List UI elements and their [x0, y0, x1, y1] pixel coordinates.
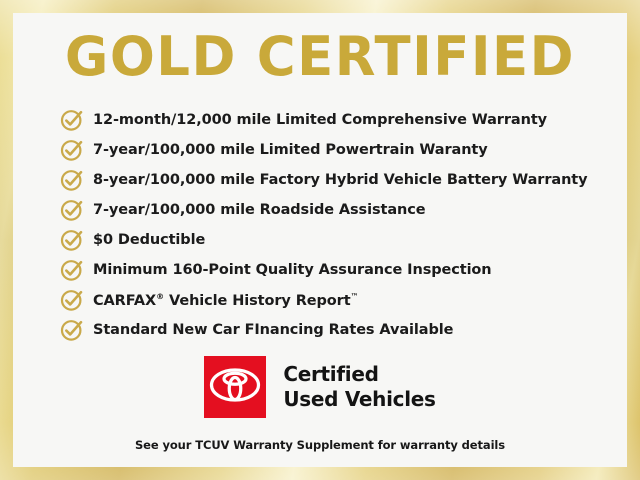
check-circle-icon — [60, 108, 84, 132]
check-circle-icon — [60, 228, 84, 252]
list-item: 8-year/100,000 mile Factory Hybrid Vehic… — [60, 165, 617, 195]
check-circle-icon — [60, 168, 84, 192]
carfax-label-suffix: Vehicle History Report — [164, 292, 350, 308]
list-item-label: 7-year/100,000 mile Roadside Assistance — [93, 202, 425, 218]
list-item-label: $0 Deductible — [93, 232, 205, 248]
carfax-brand-text: CARFAX — [93, 292, 156, 308]
list-item: Minimum 160-Point Quality Assurance Insp… — [60, 255, 617, 285]
check-circle-icon — [60, 288, 84, 312]
list-item-label: 8-year/100,000 mile Factory Hybrid Vehic… — [93, 172, 588, 188]
list-item: 7-year/100,000 mile Roadside Assistance — [60, 195, 617, 225]
list-item: Standard New Car FInancing Rates Availab… — [60, 315, 617, 345]
list-item: 7-year/100,000 mile Limited Powertrain W… — [60, 135, 617, 165]
toyota-certified-used-vehicles-logo: Certified Used Vehicles — [13, 356, 627, 418]
list-item-label: 7-year/100,000 mile Limited Powertrain W… — [93, 142, 488, 158]
benefits-list: 12-month/12,000 mile Limited Comprehensi… — [60, 105, 617, 345]
list-item-label: Standard New Car FInancing Rates Availab… — [93, 322, 453, 338]
list-item-label: 12-month/12,000 mile Limited Comprehensi… — [93, 112, 547, 128]
list-item: $0 Deductible — [60, 225, 617, 255]
toyota-wordmark-line1: Certified — [283, 362, 435, 387]
toyota-logo-box — [204, 356, 266, 418]
list-item: 12-month/12,000 mile Limited Comprehensi… — [60, 105, 617, 135]
check-circle-icon — [60, 258, 84, 282]
list-item: CARFAX® Vehicle History Report™ — [60, 285, 617, 315]
check-circle-icon — [60, 198, 84, 222]
badge-card: GOLD CERTIFIED 12-month/12,000 mile Limi… — [13, 13, 627, 467]
trademark-mark: ™ — [351, 292, 359, 301]
toyota-emblem-icon — [209, 366, 261, 409]
registered-mark: ® — [156, 292, 164, 301]
check-circle-icon — [60, 318, 84, 342]
footer-note: See your TCUV Warranty Supplement for wa… — [13, 438, 627, 452]
list-item-label: Minimum 160-Point Quality Assurance Insp… — [93, 262, 492, 278]
toyota-wordmark: Certified Used Vehicles — [283, 362, 435, 412]
toyota-wordmark-line2: Used Vehicles — [283, 387, 435, 412]
check-circle-icon — [60, 138, 84, 162]
list-item-label: CARFAX® Vehicle History Report™ — [93, 292, 359, 309]
page-title: GOLD CERTIFIED — [19, 27, 621, 87]
gold-certified-badge-frame: GOLD CERTIFIED 12-month/12,000 mile Limi… — [0, 0, 640, 480]
